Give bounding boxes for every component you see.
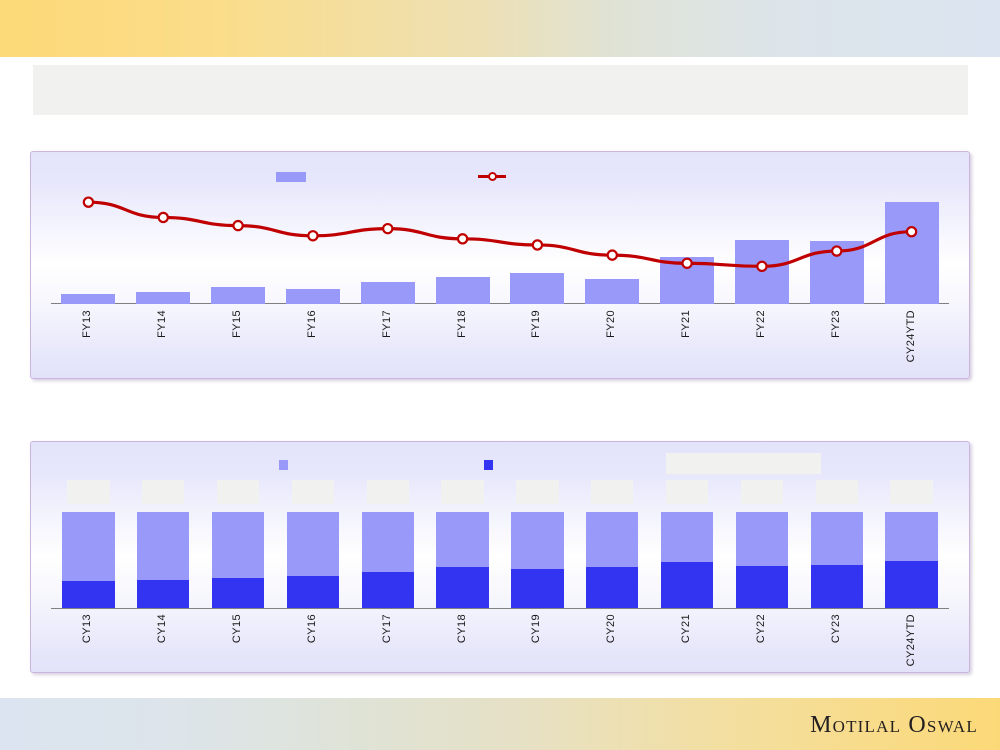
stack-segment-light-cy20[interactable] <box>586 512 638 568</box>
stack-segment-dark-cy21[interactable] <box>661 562 713 608</box>
stack-segment-light-cy22[interactable] <box>736 512 788 566</box>
stack-segment-light-cy17[interactable] <box>362 512 414 573</box>
legend-label-box-redacted <box>666 453 821 474</box>
stack-segment-dark-cy23[interactable] <box>811 565 863 608</box>
line-marker-fy22[interactable] <box>757 262 766 271</box>
data-label-box-cy13 <box>67 480 109 504</box>
line-marker-fy17[interactable] <box>383 224 392 233</box>
stack-segment-light-cy18[interactable] <box>436 512 488 567</box>
stack-segment-dark-cy15[interactable] <box>212 578 264 608</box>
stack-segment-dark-cy16[interactable] <box>287 576 339 608</box>
stack-segment-light-cy16[interactable] <box>287 512 339 577</box>
page-title <box>33 65 968 115</box>
stack-segment-dark-cy20[interactable] <box>586 567 638 608</box>
stack-segment-dark-cy13[interactable] <box>62 581 114 608</box>
stack-segment-light-cy23[interactable] <box>811 512 863 565</box>
stack-segment-light-cy13[interactable] <box>62 512 114 581</box>
stack-segment-dark-cy24ytd[interactable] <box>885 561 937 608</box>
chart-fy-combo-canvas: FY13FY14FY15FY16FY17FY18FY19FY20FY21FY22… <box>31 152 969 378</box>
data-label-box-cy21 <box>666 480 708 504</box>
line-marker-fy19[interactable] <box>533 240 542 249</box>
x-tick-cy24ytd: CY24YTD <box>905 614 917 666</box>
x-tick-cy15: CY15 <box>231 614 243 643</box>
data-label-box-cy23 <box>816 480 858 504</box>
stack-segment-dark-cy22[interactable] <box>736 566 788 608</box>
stack-segment-dark-cy18[interactable] <box>436 567 488 608</box>
data-label-box-cy17 <box>367 480 409 504</box>
legend-swatch-dark[interactable] <box>484 460 493 470</box>
trend-line-group <box>31 152 969 378</box>
data-label-box-cy15 <box>217 480 259 504</box>
trend-line-path <box>88 202 911 266</box>
data-label-box-cy22 <box>741 480 783 504</box>
data-label-box-cy14 <box>142 480 184 504</box>
line-marker-fy13[interactable] <box>84 198 93 207</box>
data-label-box-cy16 <box>292 480 334 504</box>
line-marker-fy16[interactable] <box>308 231 317 240</box>
stack-segment-light-cy14[interactable] <box>137 512 189 581</box>
line-marker-fy21[interactable] <box>682 259 691 268</box>
stack-segment-dark-cy17[interactable] <box>362 572 414 608</box>
line-marker-fy23[interactable] <box>832 246 841 255</box>
chart-panel-cy-stacked[interactable]: CY13CY14CY15CY16CY17CY18CY19CY20CY21CY22… <box>30 441 970 673</box>
x-tick-cy13: CY13 <box>81 614 93 643</box>
x-tick-cy19: CY19 <box>530 614 542 643</box>
chart-panel-fy-combo[interactable]: FY13FY14FY15FY16FY17FY18FY19FY20FY21FY22… <box>30 151 970 379</box>
stack-segment-dark-cy19[interactable] <box>511 569 563 608</box>
legend-swatch-light[interactable] <box>279 460 288 470</box>
line-marker-fy20[interactable] <box>608 251 617 260</box>
line-marker-cy24ytd[interactable] <box>907 227 916 236</box>
x-tick-cy18: CY18 <box>456 614 468 643</box>
x-tick-cy20: CY20 <box>605 614 617 643</box>
x-tick-cy16: CY16 <box>306 614 318 643</box>
chart-cy-stacked-canvas: CY13CY14CY15CY16CY17CY18CY19CY20CY21CY22… <box>31 442 969 672</box>
x-tick-cy17: CY17 <box>381 614 393 643</box>
data-label-box-cy20 <box>591 480 633 504</box>
slide-root: FY13FY14FY15FY16FY17FY18FY19FY20FY21FY22… <box>0 0 1000 750</box>
line-marker-fy14[interactable] <box>159 213 168 222</box>
x-tick-cy14: CY14 <box>156 614 168 643</box>
brand-logo-text: Motilal Oswal <box>810 712 978 739</box>
stack-segment-light-cy24ytd[interactable] <box>885 512 937 561</box>
data-label-box-cy24ytd <box>890 480 932 504</box>
data-label-box-cy18 <box>441 480 483 504</box>
stack-segment-light-cy19[interactable] <box>511 512 563 570</box>
stack-segment-dark-cy14[interactable] <box>137 580 189 608</box>
stack-segment-light-cy21[interactable] <box>661 512 713 562</box>
x-tick-cy23: CY23 <box>830 614 842 643</box>
x-tick-cy22: CY22 <box>755 614 767 643</box>
x-axis-line-cy <box>51 608 949 609</box>
line-marker-fy18[interactable] <box>458 234 467 243</box>
x-tick-cy21: CY21 <box>680 614 692 643</box>
top-banner <box>0 0 1000 57</box>
line-marker-fy15[interactable] <box>233 221 242 230</box>
data-label-box-cy19 <box>516 480 558 504</box>
stack-segment-light-cy15[interactable] <box>212 512 264 579</box>
